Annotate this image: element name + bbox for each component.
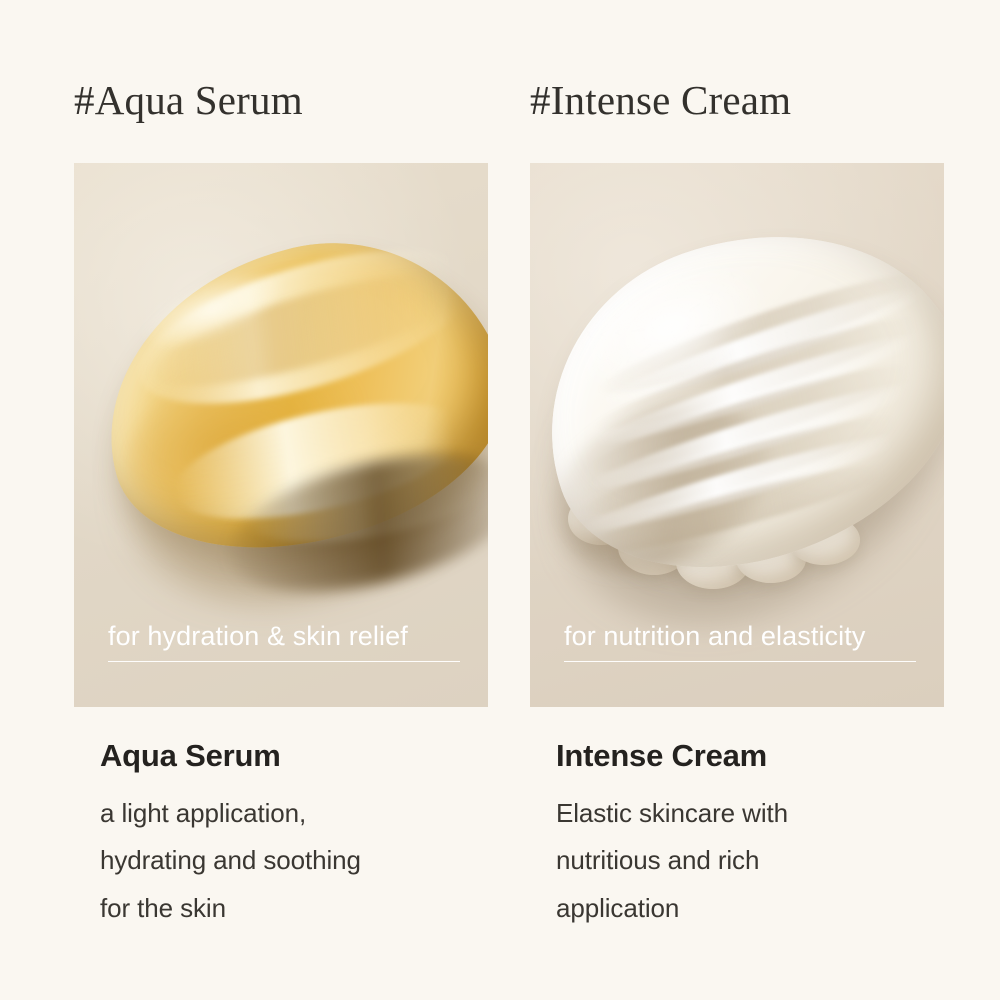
panel-caption-aqua-serum: for hydration & skin relief [108, 621, 460, 662]
product-comparison-page: #Aqua Serum for hydration & skin relief … [0, 0, 1000, 1000]
product-description-intense-cream: Elastic skincare with nutritious and ric… [556, 790, 916, 932]
product-name-aqua-serum: Aqua Serum [100, 738, 281, 774]
description-line: a light application, [100, 790, 460, 837]
swatch-panel-aqua-serum: for hydration & skin relief [74, 163, 488, 707]
swatch-panel-intense-cream: for nutrition and elasticity [530, 163, 944, 707]
product-name-intense-cream: Intense Cream [556, 738, 767, 774]
description-line: hydrating and soothing [100, 837, 460, 884]
description-line: application [556, 885, 916, 932]
description-line: Elastic skincare with [556, 790, 916, 837]
product-column-intense-cream: #Intense Cream [530, 0, 960, 1000]
description-line: for the skin [100, 885, 460, 932]
panel-caption-intense-cream: for nutrition and elasticity [564, 621, 916, 662]
hash-heading-intense-cream: #Intense Cream [530, 78, 791, 123]
hash-heading-aqua-serum: #Aqua Serum [74, 78, 303, 123]
product-description-aqua-serum: a light application, hydrating and sooth… [100, 790, 460, 932]
description-line: nutritious and rich [556, 837, 916, 884]
product-column-aqua-serum: #Aqua Serum for hydration & skin relief … [74, 0, 504, 1000]
